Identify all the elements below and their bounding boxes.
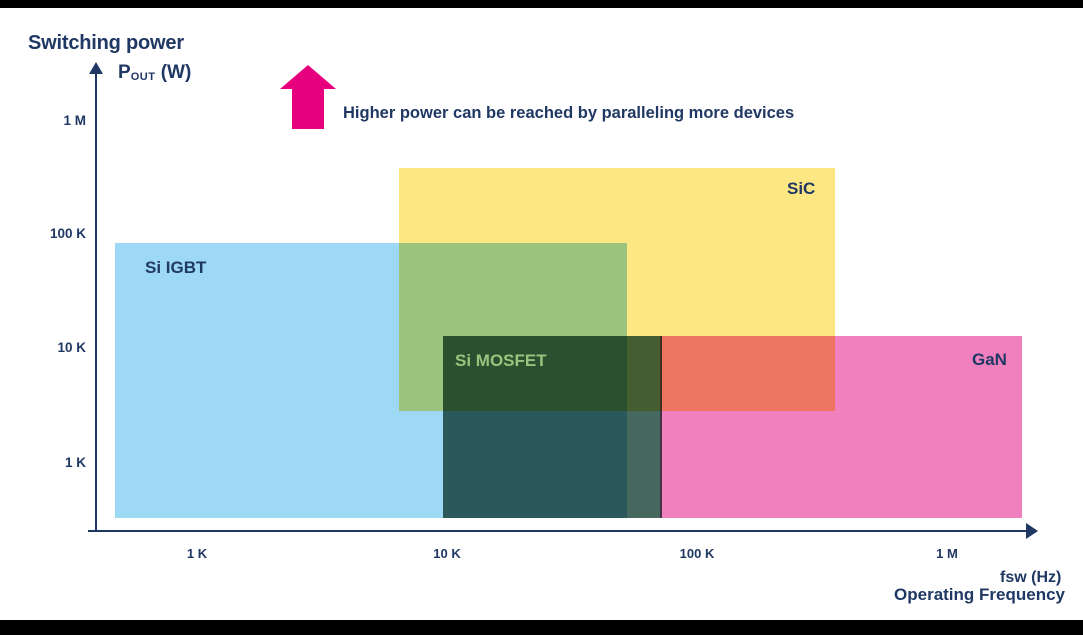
screenshot-frame: Switching power POUT (W) Higher power ca… [0,0,1083,635]
x-axis-tick-100k: 100 K [680,546,715,561]
y-axis-arrowhead-icon [89,62,103,74]
region-label-gan: GaN [972,350,1007,370]
y-axis-label-main: P [118,62,131,83]
letterbox-bar-top [0,0,1083,8]
letterbox-bar-bottom [0,620,1083,635]
x-axis-tick-10k: 10 K [433,546,460,561]
y-axis-label: POUT (W) [118,62,191,84]
y-axis-tick-1k: 1 K [18,455,86,470]
region-label-sic: SiC [787,179,815,199]
y-axis-tick-group: 1 M 100 K 10 K 1 K [6,8,86,620]
region-label-si-igbt: Si IGBT [145,258,206,278]
region-label-si-mosfet: Si MOSFET [455,351,547,371]
x-axis-label-long: Operating Frequency [894,585,1065,605]
y-axis-tick-1m: 1 M [18,113,86,128]
x-axis-arrowhead-icon [1026,523,1038,539]
y-axis-label-subscript: OUT [131,71,156,83]
x-axis-line [88,530,1028,532]
region-si-mosfet: Si MOSFET [443,336,662,518]
y-axis-tick-10k: 10 K [18,340,86,355]
y-axis-label-unit: (W) [155,62,191,83]
y-axis-line [95,71,97,532]
y-axis-tick-100k: 100 K [18,226,86,241]
annotation-label: Higher power can be reached by paralleli… [343,104,794,123]
x-axis-tick-1m: 1 M [936,546,958,561]
chart-canvas: Switching power POUT (W) Higher power ca… [0,8,1083,620]
up-arrow-icon [278,63,338,131]
x-axis-tick-1k: 1 K [187,546,207,561]
region-gan: GaN [660,336,1022,518]
